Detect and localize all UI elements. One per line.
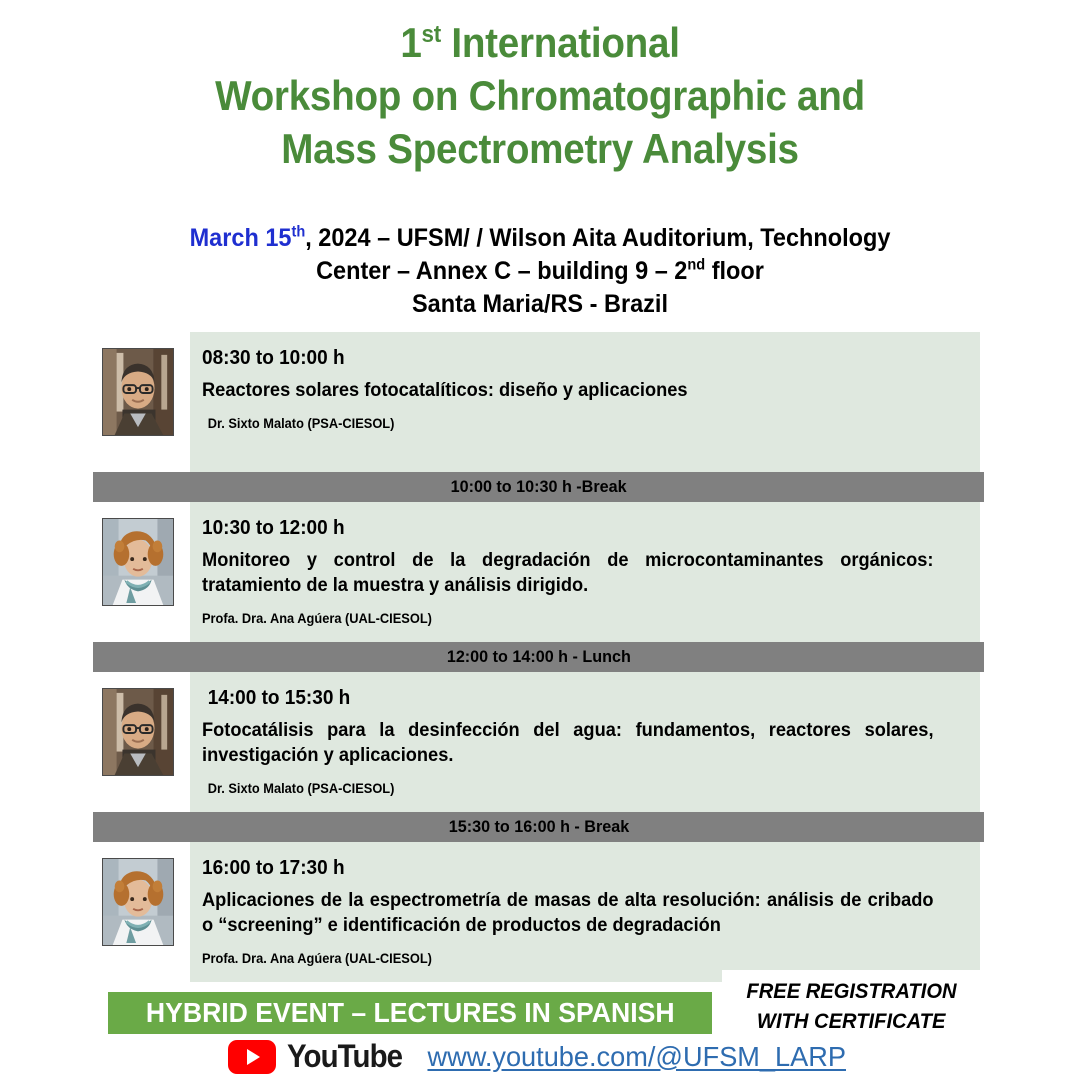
session-content: 14:00 to 15:30 h Fotocatálisis para la d… [0,672,1080,812]
venue-info: March 15th, 2024 – UFSM/ / Wilson Aita A… [32,222,1047,321]
break-label: 12:00 to 14:00 h - Lunch [446,647,630,667]
page-title: 1st International Workshop on Chromatogr… [43,16,1037,175]
event-date-suffix: th [291,224,305,241]
venue-line-2-post: floor [705,257,764,285]
youtube-wordmark: YouTube [287,1038,402,1075]
title-ordinal-number: 1 [400,19,421,66]
venue-line-3: Santa Maria/RS - Brazil [32,288,1047,321]
schedule-break-bar: 15:30 to 16:00 h - Break [93,812,984,842]
schedule-session: 10:30 to 12:00 h Monitoreo y control de … [0,502,1080,642]
hybrid-event-label: HYBRID EVENT – LECTURES IN SPANISH [146,997,675,1029]
speaker-photo-ana-aguera [102,518,174,606]
portrait-illustration [103,349,173,435]
session-time: 14:00 to 15:30 h [202,684,932,712]
youtube-play-icon [228,1040,276,1074]
youtube-row: YouTube www.youtube.com/@UFSM_LARP [0,1038,1080,1075]
session-title: Aplicaciones de la espectrometría de mas… [202,888,934,938]
poster-root: 1st International Workshop on Chromatogr… [0,0,1080,1080]
venue-line-1-rest: , 2024 – UFSM/ / Wilson Aita Auditorium,… [305,224,890,252]
session-time: 08:30 to 10:00 h [202,344,932,372]
session-time: 10:30 to 12:00 h [202,514,932,542]
session-text-block: 16:00 to 17:30 h Aplicaciones de la espe… [202,842,970,982]
venue-line-2-pre: Center – Annex C – building 9 – 2 [316,257,687,285]
venue-floor-suffix: nd [687,257,705,274]
title-line-1-rest: International [441,19,680,66]
free-registration-box: FREE REGISTRATION WITH CERTIFICATE [722,970,980,1044]
session-content: 08:30 to 10:00 h Reactores solares fotoc… [0,332,1080,472]
session-title: Monitoreo y control de la degradación de… [202,548,934,598]
session-speaker: Dr. Sixto Malato (PSA-CIESOL) [202,415,932,433]
youtube-logo: YouTube [228,1038,407,1075]
venue-line-2: Center – Annex C – building 9 – 2nd floo… [32,255,1047,288]
speaker-photo-sixto-malato [102,348,174,436]
play-triangle-icon [247,1049,260,1065]
portrait-illustration [103,689,173,775]
break-label: 15:30 to 16:00 h - Break [448,817,628,837]
session-time: 16:00 to 17:30 h [202,854,932,882]
schedule-session: 08:30 to 10:00 h Reactores solares fotoc… [0,332,1080,472]
title-line-3: Mass Spectrometry Analysis [43,122,1037,175]
session-content: 16:00 to 17:30 h Aplicaciones de la espe… [0,842,1080,982]
schedule-break-bar: 12:00 to 14:00 h - Lunch [93,642,984,672]
portrait-illustration [103,519,173,605]
hybrid-event-banner: HYBRID EVENT – LECTURES IN SPANISH [108,992,712,1034]
session-text-block: 08:30 to 10:00 h Reactores solares fotoc… [202,332,970,447]
title-ordinal-suffix: st [422,21,441,48]
schedule-list: 08:30 to 10:00 h Reactores solares fotoc… [0,332,1080,982]
session-title: Fotocatálisis para la desinfección del a… [202,718,934,768]
portrait-illustration [103,859,173,945]
title-line-2: Workshop on Chromatographic and [43,69,1037,122]
free-registration-line-2: WITH CERTIFICATE [757,1007,946,1037]
free-registration-line-1: FREE REGISTRATION [746,977,956,1007]
schedule-session: 16:00 to 17:30 h Aplicaciones de la espe… [0,842,1080,982]
session-speaker: Dr. Sixto Malato (PSA-CIESOL) [202,780,932,798]
session-title: Reactores solares fotocatalíticos: diseñ… [202,378,934,403]
break-label: 10:00 to 10:30 h -Break [451,477,627,497]
speaker-photo-sixto-malato [102,688,174,776]
venue-line-1: March 15th, 2024 – UFSM/ / Wilson Aita A… [32,222,1047,255]
session-speaker: Profa. Dra. Ana Agúera (UAL-CIESOL) [202,610,932,628]
schedule-break-bar: 10:00 to 10:30 h -Break [93,472,984,502]
event-date: March 15 [190,224,292,252]
session-text-block: 14:00 to 15:30 h Fotocatálisis para la d… [202,672,970,812]
title-line-1: 1st International [43,16,1037,69]
speaker-photo-ana-aguera [102,858,174,946]
youtube-channel-link[interactable]: www.youtube.com/@UFSM_LARP [427,1041,846,1073]
session-content: 10:30 to 12:00 h Monitoreo y control de … [0,502,1080,642]
schedule-session: 14:00 to 15:30 h Fotocatálisis para la d… [0,672,1080,812]
session-speaker: Profa. Dra. Ana Agúera (UAL-CIESOL) [202,950,932,968]
session-text-block: 10:30 to 12:00 h Monitoreo y control de … [202,502,970,642]
